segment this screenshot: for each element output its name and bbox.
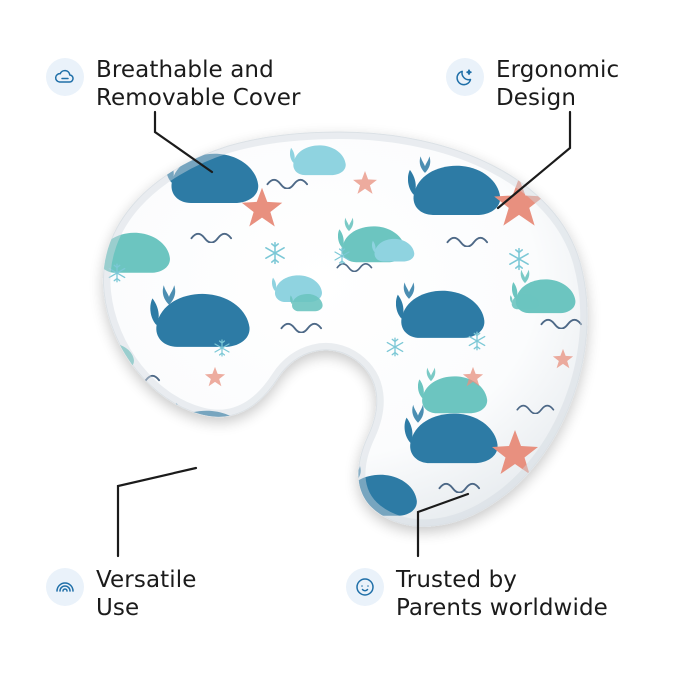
callout-ergonomic-label: Ergonomic Design [496, 56, 619, 112]
cloud-icon [53, 65, 77, 89]
moon-star-icon-badge [446, 58, 484, 96]
callout-versatile-label: Versatile Use [96, 566, 196, 622]
cloud-icon-badge [46, 58, 84, 96]
callout-trusted-label: Trusted by Parents worldwide [396, 566, 608, 622]
callout-breathable-label: Breathable and Removable Cover [96, 56, 301, 112]
rainbow-icon [53, 575, 77, 599]
callout-versatile: Versatile Use [46, 566, 196, 622]
rainbow-icon-badge [46, 568, 84, 606]
moon-star-icon [453, 65, 477, 89]
baby-face-icon-badge [346, 568, 384, 606]
callout-breathable: Breathable and Removable Cover [46, 56, 301, 112]
callout-trusted: Trusted by Parents worldwide [346, 566, 608, 622]
callout-ergonomic: Ergonomic Design [446, 56, 619, 112]
baby-face-icon [353, 575, 377, 599]
product-feature-image: Breathable and Removable Cover Ergonomic… [0, 0, 679, 679]
